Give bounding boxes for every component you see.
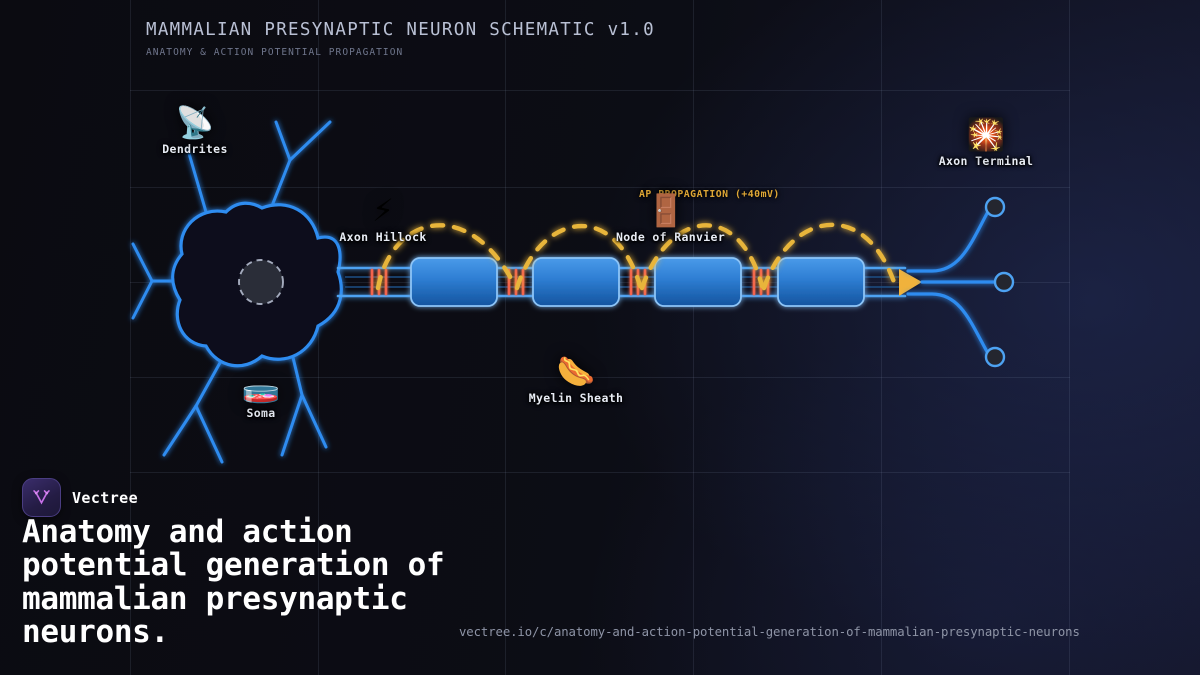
annotation-label-soma: Soma	[211, 406, 311, 420]
door-icon: 🚪	[616, 196, 716, 227]
terminal-bouton	[995, 273, 1013, 291]
annotation-label-myelin-sheath: Myelin Sheath	[526, 391, 626, 405]
petri-dish-icon: 🧫	[211, 372, 311, 403]
annotation-soma: 🧫 Soma	[211, 372, 311, 420]
terminal-bouton	[986, 348, 1004, 366]
myelin-segment	[533, 258, 619, 306]
lightning-bolt-icon: ⚡	[333, 196, 433, 227]
myelin-segment	[778, 258, 864, 306]
schematic-canvas: MAMMALIAN PRESYNAPTIC NEURON SCHEMATIC v…	[0, 0, 1200, 675]
satellite-dish-icon: 📡	[145, 108, 245, 139]
myelin-segment	[411, 258, 497, 306]
terminal-bouton	[986, 198, 1004, 216]
brand-name: Vectree	[72, 489, 138, 507]
terminal-branches	[908, 208, 996, 357]
axon-direction-arrow	[899, 269, 922, 296]
hot-dog-icon: 🌭	[526, 357, 626, 388]
sparkler-icon: 🎇	[936, 120, 1036, 151]
annotation-node-of-ranvier: 🚪 Node of Ranvier	[616, 196, 716, 244]
annotation-label-node-of-ranvier: Node of Ranvier	[616, 230, 716, 244]
annotation-label-dendrites: Dendrites	[145, 142, 245, 156]
brand: Vectree	[22, 478, 138, 517]
annotation-axon-hillock: ⚡ Axon Hillock	[333, 196, 433, 244]
annotation-label-axon-hillock: Axon Hillock	[333, 230, 433, 244]
annotation-label-axon-terminal: Axon Terminal	[936, 154, 1036, 168]
headline: Anatomy and action potential generation …	[22, 516, 492, 650]
annotation-myelin-sheath: 🌭 Myelin Sheath	[526, 357, 626, 405]
page-url: vectree.io/c/anatomy-and-action-potentia…	[459, 625, 1080, 639]
annotation-dendrites: 📡 Dendrites	[145, 108, 245, 156]
myelin-segment	[655, 258, 741, 306]
nucleus	[239, 260, 283, 304]
annotation-axon-terminal: 🎇 Axon Terminal	[936, 120, 1036, 168]
vectree-logo-icon	[22, 478, 61, 517]
